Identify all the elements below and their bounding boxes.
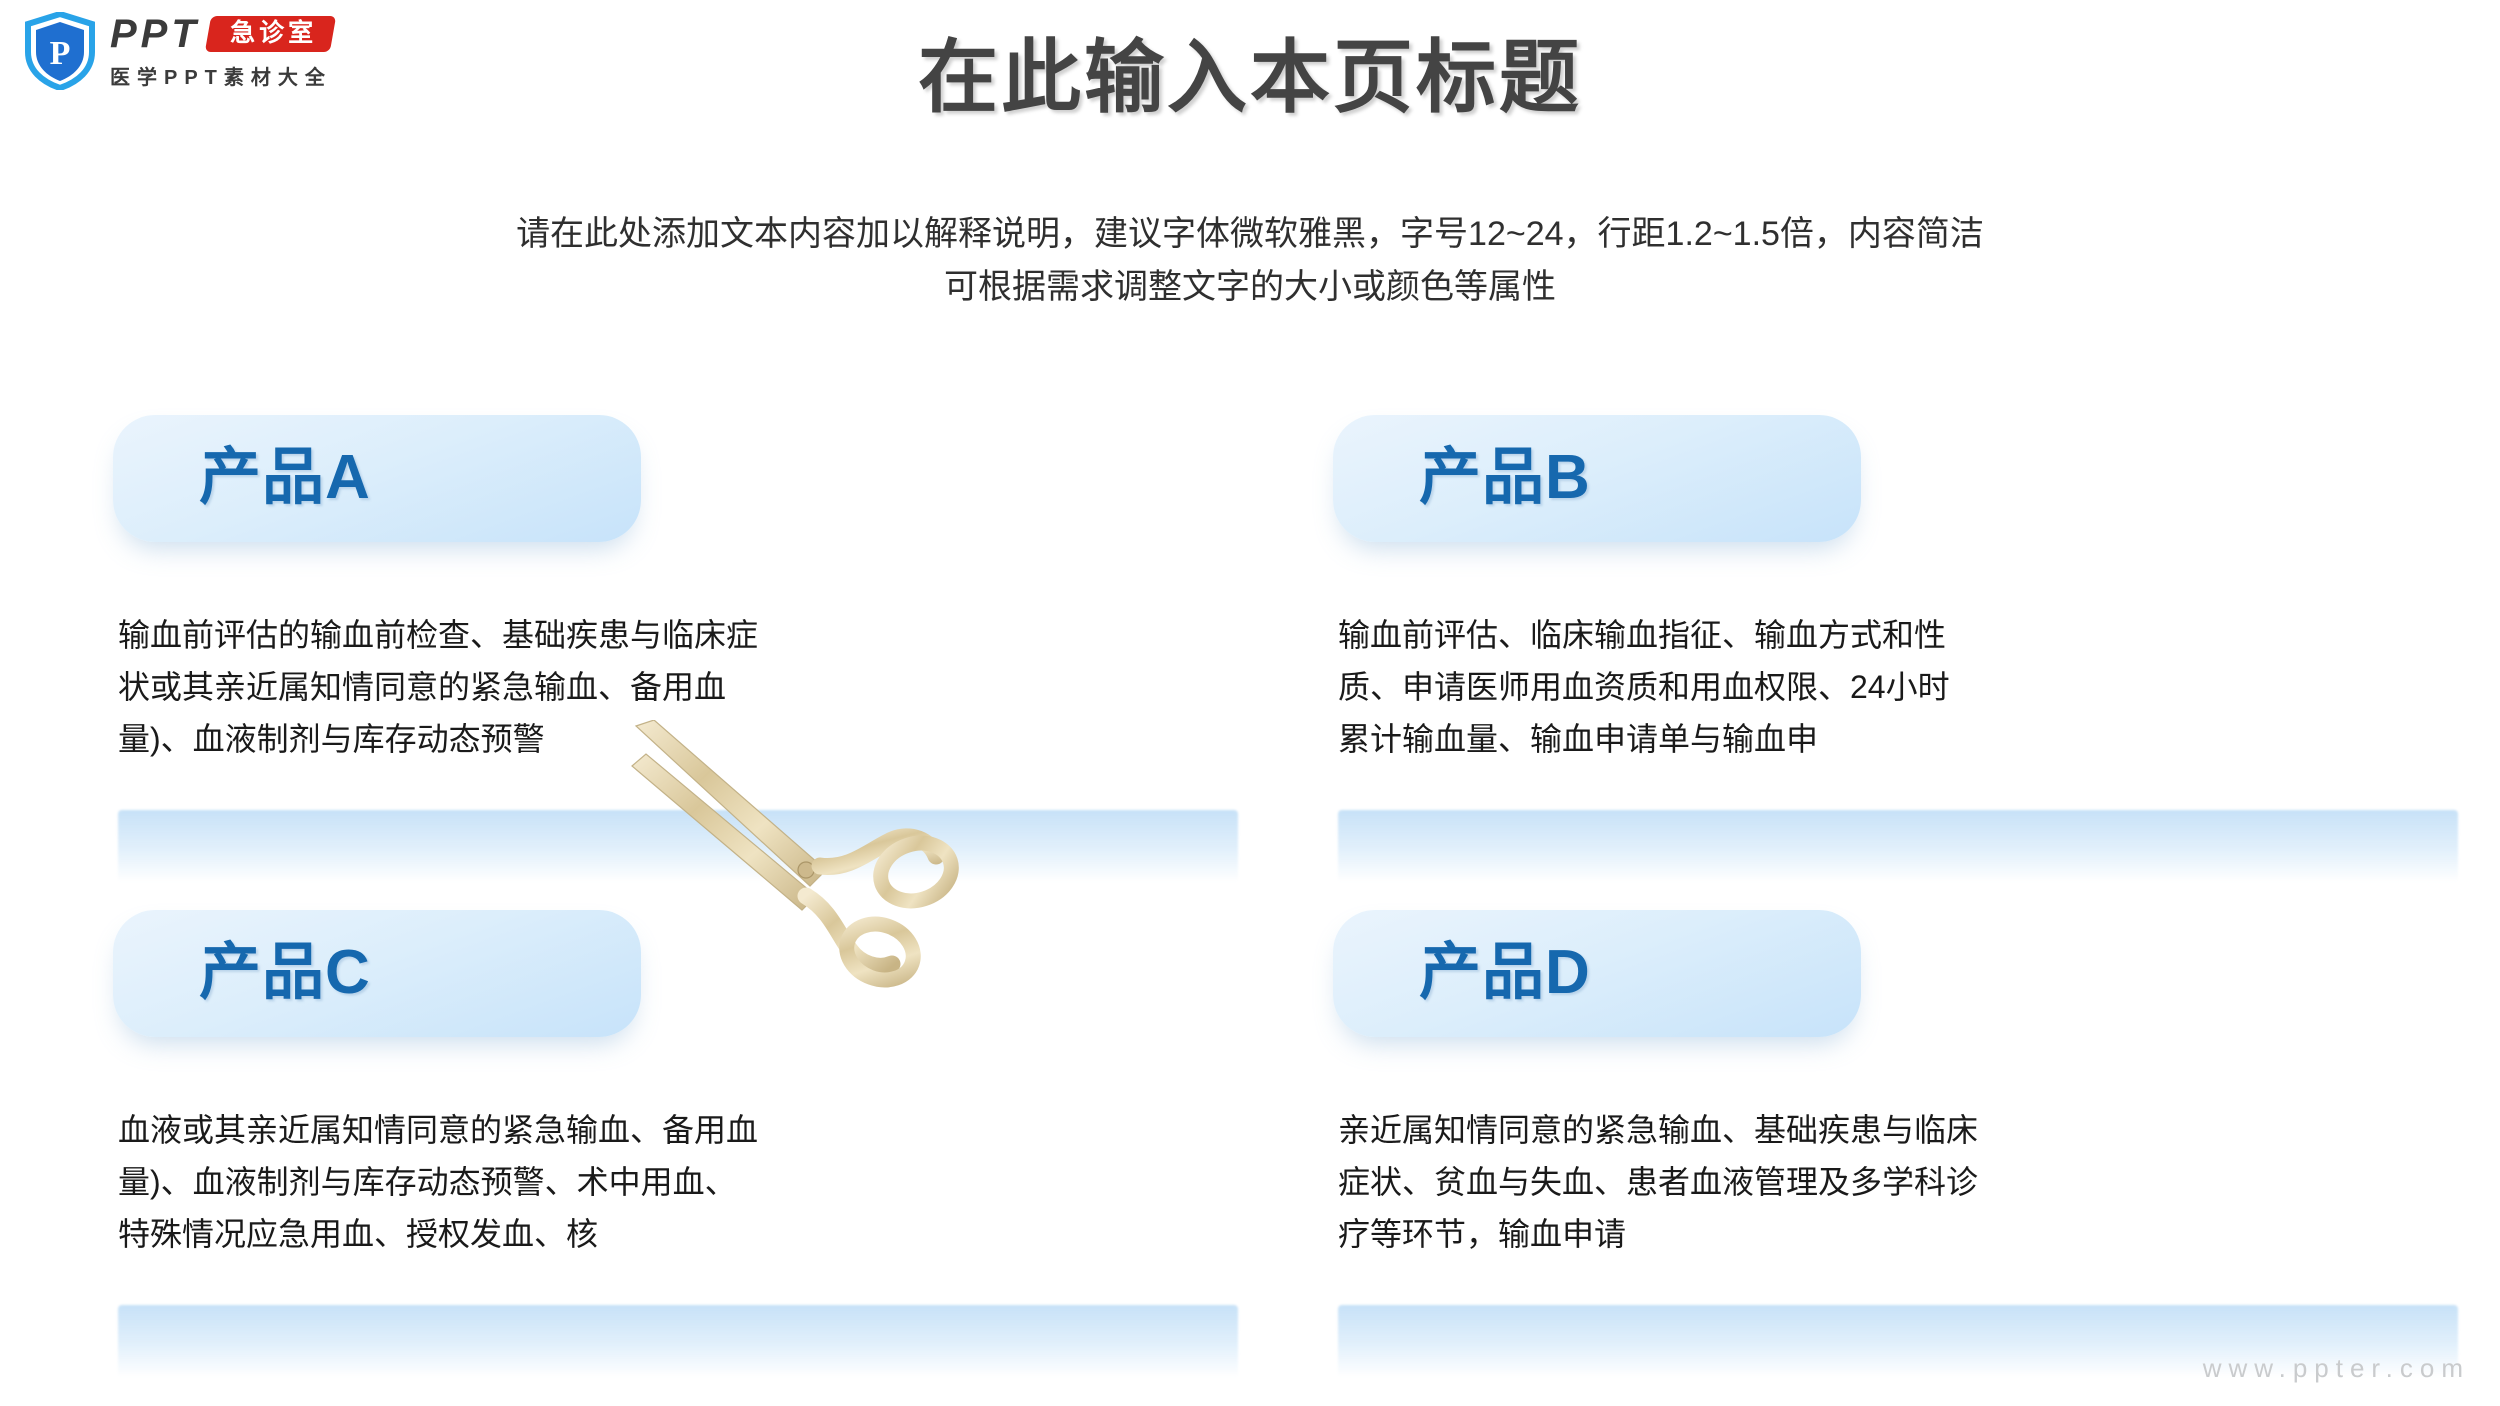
- card-c-accent-band: [118, 1305, 1238, 1377]
- product-card-d[interactable]: 产品D 亲近属知情同意的紧急输血、基础疾患与临床症状、贫血与失血、患者血液管理及…: [1330, 910, 2460, 1380]
- page-title: 在此输入本页标题: [0, 34, 2500, 122]
- card-a-title-pill[interactable]: 产品A: [113, 415, 641, 542]
- card-b-title-pill[interactable]: 产品B: [1333, 415, 1861, 542]
- page-subtitle-line-2: 可根据需求调整文字的大小或颜色等属性: [0, 261, 2500, 314]
- card-b-accent-band: [1338, 810, 2458, 882]
- product-card-a[interactable]: 产品A 输血前评估的输血前检查、基础疾患与临床症状或其亲近属知情同意的紧急输血、…: [110, 415, 1240, 885]
- card-d-title: 产品D: [1419, 936, 1591, 1010]
- page-subtitle: 请在此处添加文本内容加以解释说明，建议字体微软雅黑，字号12~24，行距1.2~…: [0, 208, 2500, 313]
- card-b-title: 产品B: [1419, 441, 1591, 515]
- card-b-body: 输血前评估、临床输血指征、输血方式和性质、申请医师用血资质和用血权限、24小时累…: [1338, 610, 1978, 765]
- card-c-title-pill[interactable]: 产品C: [113, 910, 641, 1037]
- site-watermark: www.ppter.com: [2203, 1353, 2470, 1384]
- page-subtitle-line-1: 请在此处添加文本内容加以解释说明，建议字体微软雅黑，字号12~24，行距1.2~…: [0, 208, 2500, 261]
- card-c-title: 产品C: [199, 936, 371, 1010]
- card-d-body: 亲近属知情同意的紧急输血、基础疾患与临床症状、贫血与失血、患者血液管理及多学科诊…: [1338, 1105, 1978, 1260]
- slide-canvas: P PPT 急诊室 医学PPT素材大全 在此输入本页标题 请在此处添加文本内容加…: [0, 0, 2500, 1406]
- card-d-title-pill[interactable]: 产品D: [1333, 910, 1861, 1037]
- card-c-body: 血液或其亲近属知情同意的紧急输血、备用血量)、血液制剂与库存动态预警、术中用血、…: [118, 1105, 758, 1260]
- product-card-c[interactable]: 产品C 血液或其亲近属知情同意的紧急输血、备用血量)、血液制剂与库存动态预警、术…: [110, 910, 1240, 1380]
- card-a-title: 产品A: [199, 441, 371, 515]
- product-card-b[interactable]: 产品B 输血前评估、临床输血指征、输血方式和性质、申请医师用血资质和用血权限、2…: [1330, 415, 2460, 885]
